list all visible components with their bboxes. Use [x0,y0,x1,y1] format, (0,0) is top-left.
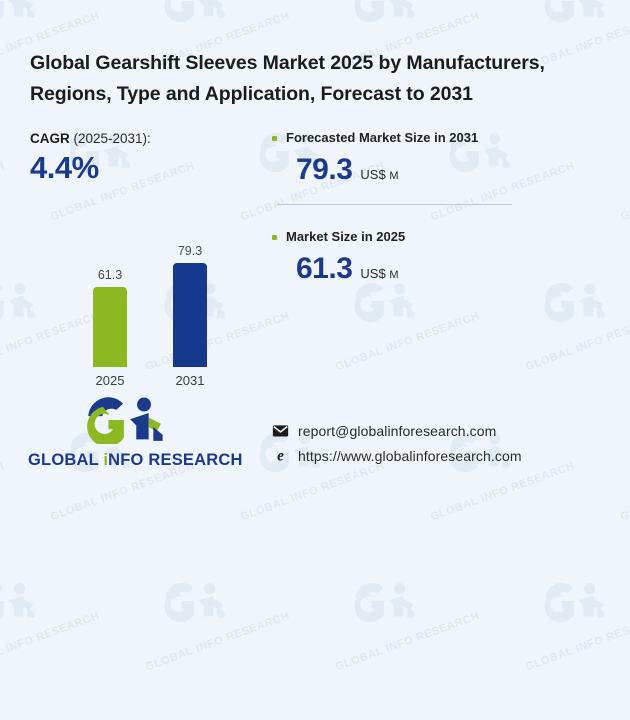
market-size-bar-chart: 61.3 2025 79.3 2031 [30,228,245,388]
cagr-value: 4.4% [30,150,151,186]
stat-unit: US$ M [360,167,398,182]
cagr-block: CAGR (2025-2031): 4.4% [30,131,151,186]
stat-header: Forecasted Market Size in 2031 [272,130,612,145]
stat-number: 61.3 [296,253,352,285]
bar-group-2031: 79.3 2031 [150,244,230,388]
logo-word-global: GLOBAL [28,451,103,469]
stat-header: Market Size in 2025 [272,229,612,244]
stat-unit-currency: US$ [360,266,385,281]
contact-email-text: report@globalinforesearch.com [298,423,496,439]
envelope-icon [272,422,289,439]
stat-unit-magnitude: M [389,170,398,182]
stat-number: 79.3 [296,154,352,186]
stat-unit: US$ M [360,266,398,281]
bullet-square-icon [272,136,277,141]
bar-category-label: 2031 [150,373,230,388]
bar-2025 [93,287,127,367]
stat-unit-currency: US$ [360,167,385,182]
cagr-label-period: (2025-2031): [70,131,151,146]
bar-value-label: 61.3 [70,268,150,282]
page-title: Global Gearshift Sleeves Market 2025 by … [30,48,610,110]
bar-category-label: 2025 [70,373,150,388]
cagr-label: CAGR (2025-2031): [30,131,151,146]
stat-value-row: 79.3 US$ M [272,154,612,186]
stats-panel: Forecasted Market Size in 2031 79.3 US$ … [272,130,612,285]
svg-text:e: e [277,448,284,464]
logo-word-rest: NFO RESEARCH [108,451,242,469]
stat-unit-magnitude: M [389,269,398,281]
contact-block: report@globalinforesearch.com e https://… [272,418,522,468]
logo-wordmark: GLOBAL iNFO RESEARCH [28,451,223,470]
panel-divider [277,204,512,205]
internet-explorer-icon: e [272,447,289,464]
stat-label: Market Size in 2025 [286,229,405,244]
stat-value-row: 61.3 US$ M [272,253,612,285]
contact-website-row[interactable]: e https://www.globalinforesearch.com [272,443,522,468]
company-logo: GLOBAL iNFO RESEARCH [28,396,223,470]
bullet-square-icon [272,235,277,240]
stat-market-size-2025: Market Size in 2025 61.3 US$ M [272,229,612,285]
gi-logo-mark-icon [79,396,172,444]
bar-2031 [173,263,207,367]
bar-group-2025: 61.3 2025 [70,268,150,388]
stat-label: Forecasted Market Size in 2031 [286,130,478,145]
contact-email-row[interactable]: report@globalinforesearch.com [272,418,522,443]
stat-forecasted-market-size-2031: Forecasted Market Size in 2031 79.3 US$ … [272,130,612,186]
contact-website-text: https://www.globalinforesearch.com [298,448,522,464]
bar-value-label: 79.3 [150,244,230,258]
cagr-label-bold: CAGR [30,131,70,146]
